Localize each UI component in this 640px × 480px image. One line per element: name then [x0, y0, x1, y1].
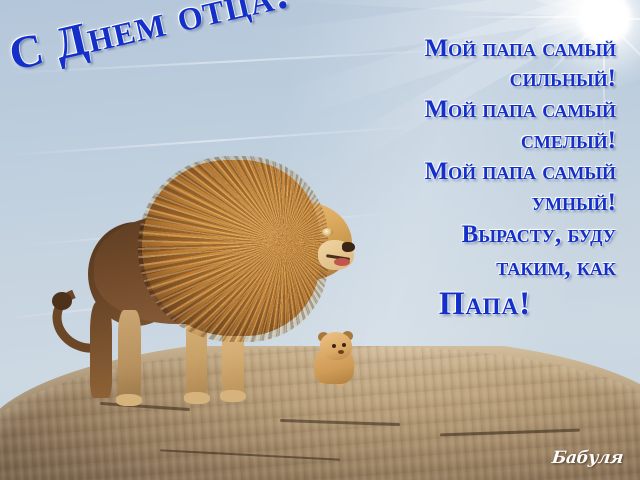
greeting-card: С Днем отца! Мой папа самый сильный! Мой… — [0, 0, 640, 480]
poem-block: Мой папа самый сильный! Мой папа самый с… — [354, 34, 616, 324]
poem-line: смелый! — [354, 125, 616, 156]
cub-eye — [342, 343, 346, 347]
lion-paw — [220, 390, 246, 402]
lion-tongue — [334, 258, 350, 266]
lion-mane-highlight — [138, 156, 328, 342]
poem-line: таким, как — [354, 251, 616, 284]
lion-back-leg-left — [118, 310, 141, 402]
poem-line: Мой папа самый — [354, 34, 616, 64]
poem-line: Мой папа самый — [354, 156, 616, 187]
lion-eye — [322, 228, 333, 236]
lion-paw — [184, 392, 210, 404]
cub-nose — [338, 350, 344, 354]
lion-paw — [116, 394, 142, 406]
poem-line: умный! — [354, 187, 616, 218]
poem-line: Вырасту, буду — [354, 218, 616, 251]
cub-head — [320, 332, 352, 360]
lion-cub — [306, 330, 362, 386]
lion-tail-tip — [52, 292, 72, 310]
poem-line: сильный! — [354, 64, 616, 94]
poem-line: Мой папа самый — [354, 94, 616, 125]
poem-line: Папа! — [354, 284, 616, 324]
watermark: Бабуля — [551, 448, 624, 468]
lion-back-leg-right — [90, 302, 112, 398]
cub-eye — [332, 344, 336, 348]
